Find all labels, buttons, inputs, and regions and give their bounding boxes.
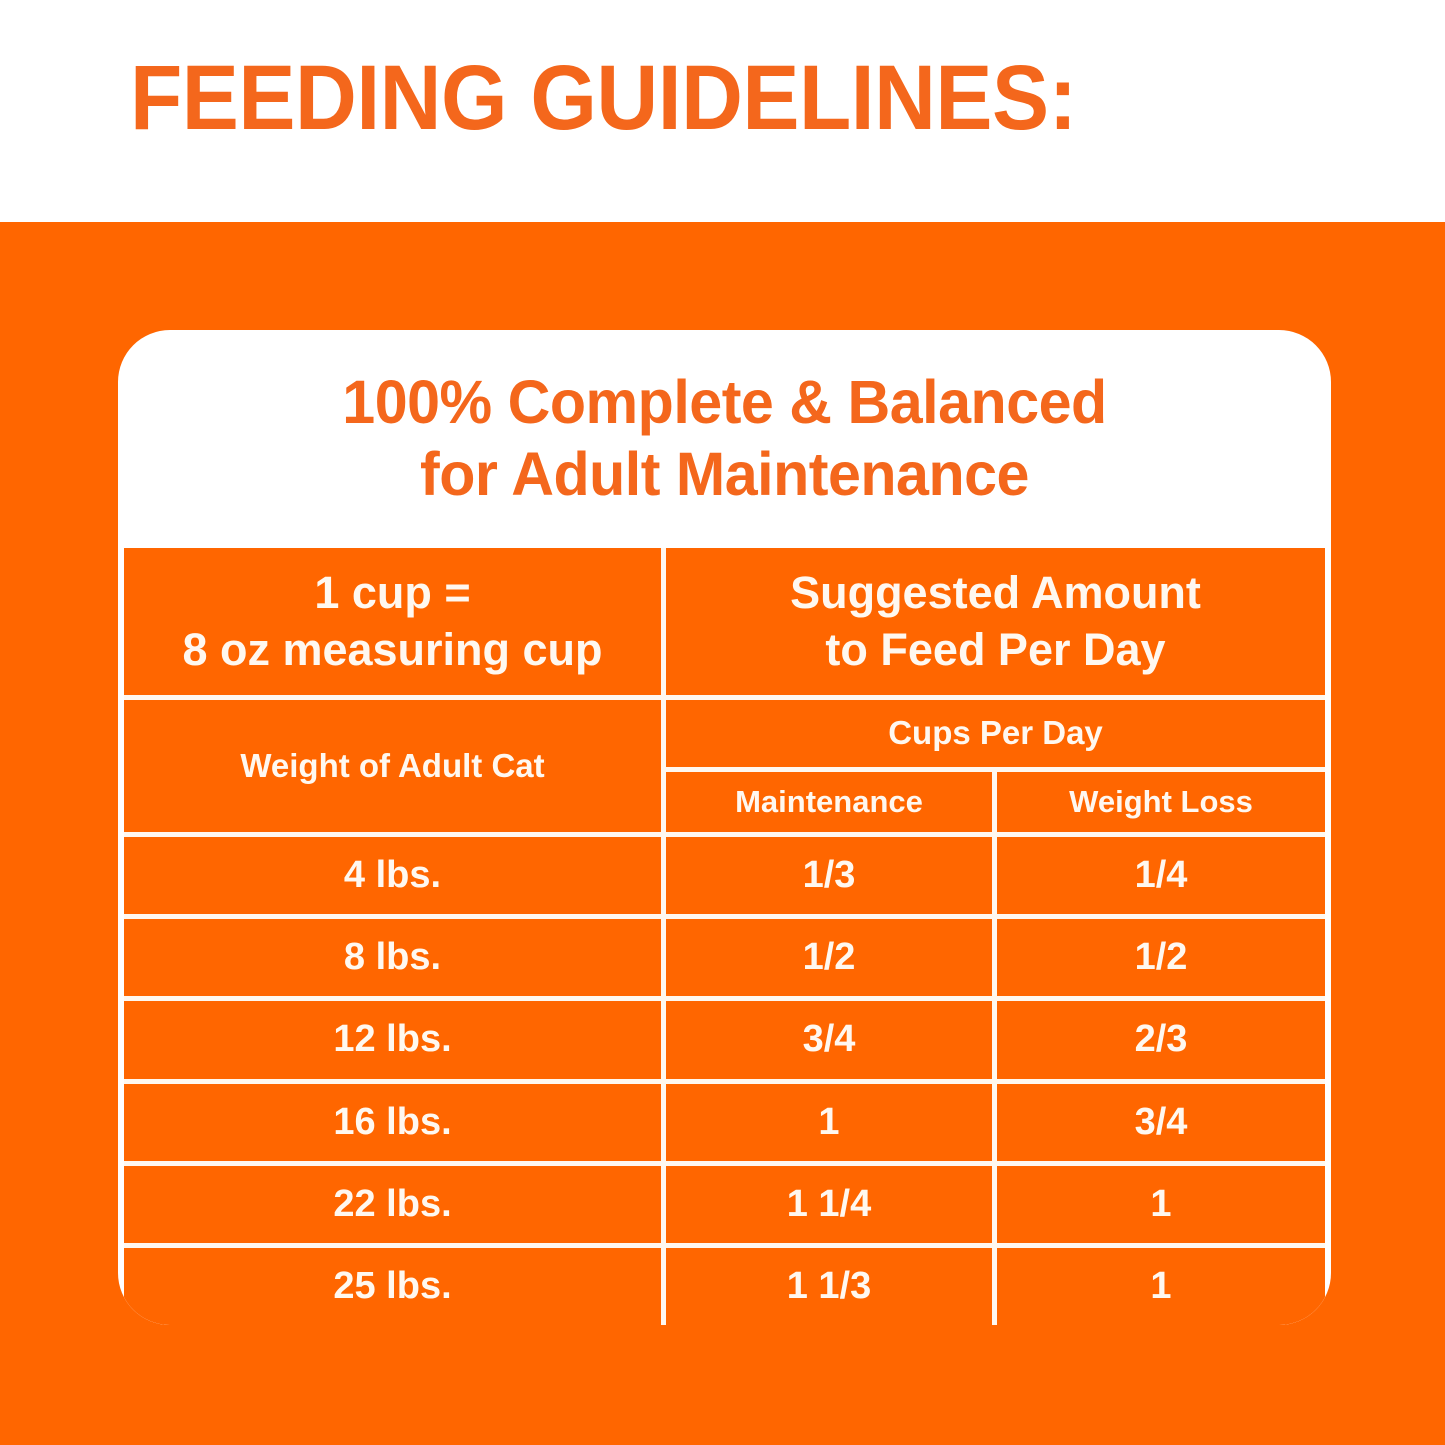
cell-weight-loss: 3/4: [997, 1084, 1325, 1161]
suggested-amount-cell: Suggested Amount to Feed Per Day: [666, 548, 1325, 695]
top-banner: FEEDING GUIDELINES:: [0, 0, 1445, 222]
cups-per-day-group: Cups Per Day Maintenance Weight Loss: [666, 700, 1325, 832]
cell-weight-loss: 2/3: [997, 1001, 1325, 1078]
suggested-amount-line-1: Suggested Amount: [790, 564, 1201, 621]
cell-weight: 16 lbs.: [124, 1084, 661, 1161]
cell-maintenance: 1 1/4: [666, 1166, 992, 1243]
cell-weight: 12 lbs.: [124, 1001, 661, 1078]
table-row: 8 lbs. 1/2 1/2: [124, 919, 1325, 996]
cup-note-line-2: 8 oz measuring cup: [182, 621, 602, 678]
suggested-amount-line-2: to Feed Per Day: [790, 621, 1201, 678]
cell-weight-loss: 1/2: [997, 919, 1325, 996]
table-header-row: Weight of Adult Cat Cups Per Day Mainten…: [124, 700, 1325, 832]
cup-equivalence-cell: 1 cup = 8 oz measuring cup: [124, 548, 661, 695]
feeding-guidelines-card: 100% Complete & Balanced for Adult Maint…: [118, 330, 1331, 1325]
column-header-weight: Weight of Adult Cat: [124, 700, 661, 832]
table-row: 4 lbs. 1/3 1/4: [124, 837, 1325, 914]
cell-maintenance: 1: [666, 1084, 992, 1161]
cell-weight-loss: 1: [997, 1248, 1325, 1325]
card-heading-line-1: 100% Complete & Balanced: [136, 366, 1313, 438]
cell-weight: 25 lbs.: [124, 1248, 661, 1325]
page-title: FEEDING GUIDELINES:: [130, 52, 1077, 144]
sub-column-headers: Maintenance Weight Loss: [666, 772, 1325, 832]
cell-weight-loss: 1/4: [997, 837, 1325, 914]
column-header-cups-per-day: Cups Per Day: [666, 700, 1325, 767]
table-row: 25 lbs. 1 1/3 1: [124, 1248, 1325, 1325]
feeding-table: 1 cup = 8 oz measuring cup Suggested Amo…: [124, 548, 1325, 1325]
cell-weight: 4 lbs.: [124, 837, 661, 914]
table-row: 12 lbs. 3/4 2/3: [124, 1001, 1325, 1078]
table-row: 16 lbs. 1 3/4: [124, 1084, 1325, 1161]
cup-note-line-1: 1 cup =: [182, 564, 602, 621]
cell-weight: 8 lbs.: [124, 919, 661, 996]
column-header-weight-loss: Weight Loss: [997, 772, 1325, 832]
card-heading-line-2: for Adult Maintenance: [136, 438, 1313, 510]
cell-weight-loss: 1: [997, 1166, 1325, 1243]
cell-maintenance: 1/2: [666, 919, 992, 996]
cell-maintenance: 1/3: [666, 837, 992, 914]
cell-weight: 22 lbs.: [124, 1166, 661, 1243]
table-row: 22 lbs. 1 1/4 1: [124, 1166, 1325, 1243]
table-row-info: 1 cup = 8 oz measuring cup Suggested Amo…: [124, 548, 1325, 695]
card-heading: 100% Complete & Balanced for Adult Maint…: [118, 366, 1331, 510]
column-header-maintenance: Maintenance: [666, 772, 992, 832]
cell-maintenance: 1 1/3: [666, 1248, 992, 1325]
cell-maintenance: 3/4: [666, 1001, 992, 1078]
